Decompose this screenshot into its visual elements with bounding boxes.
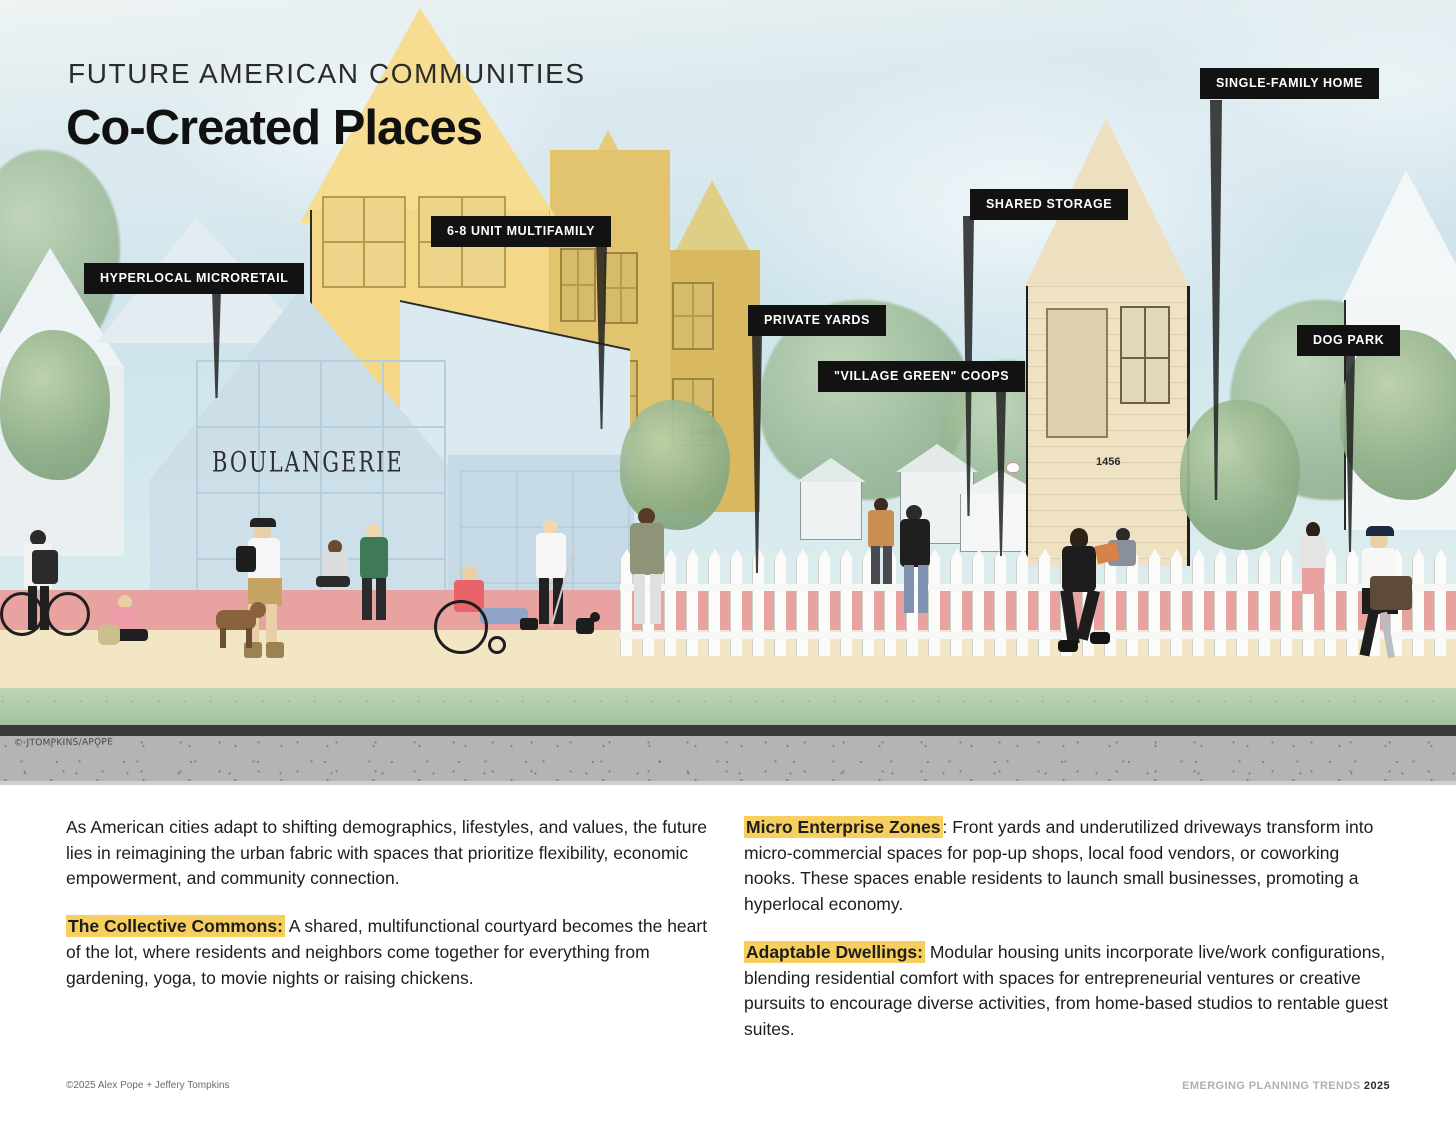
callout-label[interactable]: "VILLAGE GREEN" COOPS (818, 361, 1025, 392)
callout-label[interactable]: SHARED STORAGE (970, 189, 1128, 220)
copy-column-right: Micro Enterprise Zones: Front yards and … (744, 815, 1389, 1065)
tree (1180, 400, 1300, 550)
micro-enterprise-paragraph: Micro Enterprise Zones: Front yards and … (744, 815, 1389, 918)
footer-copyright: ©2025 Alex Pope + Jeffery Tompkins (66, 1080, 230, 1091)
window (604, 252, 638, 324)
picket-fence (620, 558, 1456, 658)
callout-label[interactable]: HYPERLOCAL MICRORETAIL (84, 263, 304, 294)
address-number-single-family: 1456 (1096, 456, 1120, 468)
page-title: Co-Created Places (66, 100, 482, 156)
collective-commons-paragraph: The Collective Commons: A shared, multif… (66, 914, 711, 991)
infographic-page: 1448B BOULANGERIE (0, 0, 1456, 1125)
micro-enterprise-term: Micro Enterprise Zones (744, 816, 943, 838)
adaptable-dwellings-term: Adaptable Dwellings: (744, 941, 925, 963)
footer-series: EMERGING PLANNING TRENDS 2025 (1182, 1080, 1390, 1092)
callout-label[interactable]: 6-8 UNIT MULTIFAMILY (431, 216, 611, 247)
collective-commons-term: The Collective Commons: (66, 915, 285, 937)
footer-year: 2025 (1364, 1080, 1390, 1092)
shed-roof (796, 458, 866, 482)
callout-label[interactable]: SINGLE-FAMILY HOME (1200, 68, 1379, 99)
single-family-window (1120, 306, 1170, 404)
copy-column-left: As American cities adapt to shifting dem… (66, 815, 711, 1013)
street-asphalt (0, 736, 1456, 785)
window (322, 196, 406, 288)
illustration-scene: 1448B BOULANGERIE (0, 0, 1456, 785)
single-family-door (1046, 308, 1108, 438)
adaptable-dwellings-paragraph: Adaptable Dwellings: Modular housing uni… (744, 940, 1389, 1043)
eyebrow-text: FUTURE AMERICAN COMMUNITIES (68, 58, 586, 90)
planting-texture (0, 672, 1456, 712)
tree (620, 400, 730, 530)
shed (800, 478, 862, 540)
window (560, 248, 596, 322)
callout-label[interactable]: DOG PARK (1297, 325, 1400, 356)
background-house-right-roof (1342, 170, 1456, 302)
footer-series-label: EMERGING PLANNING TRENDS (1182, 1080, 1360, 1092)
body-copy-section: As American cities adapt to shifting dem… (0, 785, 1456, 1125)
window (672, 282, 714, 350)
tree (0, 330, 110, 480)
shed-roof (896, 444, 978, 472)
tree (1340, 330, 1456, 500)
artist-signature: © JTOMPKINS/APOPE (14, 737, 113, 748)
chicken-icon (1006, 462, 1020, 473)
storefront-sign: BOULANGERIE (212, 446, 404, 478)
callout-label[interactable]: PRIVATE YARDS (748, 305, 886, 336)
intro-paragraph: As American cities adapt to shifting dem… (66, 815, 711, 892)
